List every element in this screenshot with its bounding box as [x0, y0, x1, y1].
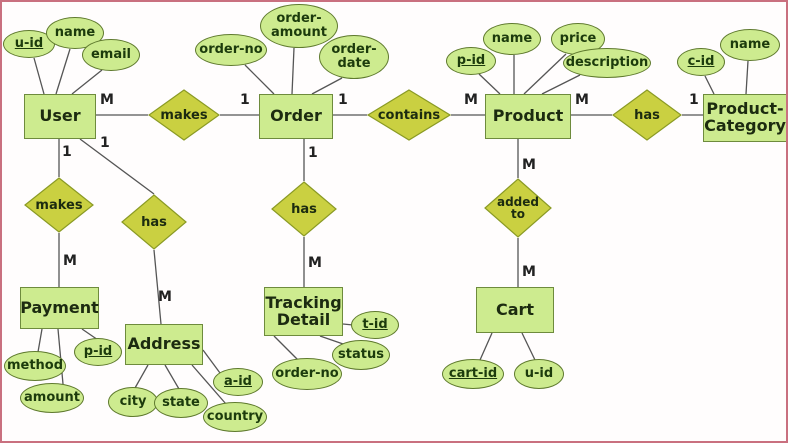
er-diagram-canvas: makescontainshasmakeshashasaddedto UserO…: [0, 0, 788, 443]
connector-line: [38, 329, 42, 352]
connector-line: [705, 76, 714, 94]
connector-line: [524, 54, 566, 94]
attribute-label: a-id: [224, 375, 252, 389]
entity-label: Order: [270, 108, 322, 125]
cardinality-c-contains-product: M: [464, 92, 478, 108]
connector-line: [56, 49, 70, 94]
attribute-label: c-id: [688, 55, 715, 69]
attribute-label: cart-id: [449, 367, 497, 381]
attribute-product-description[interactable]: description: [563, 48, 651, 78]
entity-tracking[interactable]: TrackingDetail: [264, 287, 343, 336]
cardinality-c-order-contains: 1: [338, 92, 348, 108]
attribute-category-name[interactable]: name: [720, 29, 780, 61]
relationship-label: has: [121, 194, 187, 250]
relationship-label: makes: [24, 177, 94, 233]
attribute-label: order-amount: [271, 12, 327, 39]
attribute-label: price: [560, 32, 597, 46]
entity-label: Address: [127, 336, 200, 353]
attribute-order-order-amount[interactable]: order-amount: [260, 4, 338, 48]
attribute-label: p-id: [457, 54, 485, 68]
attribute-label: country: [207, 410, 263, 424]
attribute-tracking-t-id[interactable]: t-id: [351, 311, 399, 339]
attribute-label: order-no: [275, 367, 338, 381]
connector-line: [746, 61, 748, 94]
attribute-payment-p-id[interactable]: p-id: [74, 338, 122, 366]
entity-product[interactable]: Product: [485, 94, 571, 139]
relationship-label: addedto: [484, 178, 552, 238]
connector-line: [522, 333, 535, 360]
entity-label: Product-Category: [704, 101, 786, 135]
cardinality-c-makes2-payment: M: [63, 253, 77, 269]
relationship-product-added-to-cart[interactable]: addedto: [484, 178, 552, 238]
cardinality-c-has-tracking: M: [308, 255, 322, 271]
connector-line: [479, 74, 500, 94]
attribute-tracking-order-no[interactable]: order-no: [272, 358, 342, 390]
cardinality-c-product-added: M: [522, 157, 536, 173]
connector-line: [274, 336, 298, 360]
attribute-label: name: [730, 38, 770, 52]
attribute-label: u-id: [525, 367, 553, 381]
connector-line: [72, 70, 102, 94]
attribute-label: state: [162, 396, 200, 410]
cardinality-c-user-has: 1: [100, 135, 110, 151]
attribute-label: t-id: [362, 318, 387, 332]
attribute-label: description: [566, 56, 649, 70]
attribute-label: order-no: [199, 43, 262, 57]
attribute-cart-cart-id[interactable]: cart-id: [442, 359, 504, 389]
entity-payment[interactable]: Payment: [20, 287, 99, 329]
attribute-payment-amount[interactable]: amount: [20, 383, 84, 413]
attribute-label: city: [120, 395, 147, 409]
attribute-product-p-id[interactable]: p-id: [446, 47, 496, 75]
attribute-user-email[interactable]: email: [82, 39, 140, 71]
relationship-user-has-address[interactable]: has: [121, 194, 187, 250]
relationship-product-has-category[interactable]: has: [612, 89, 682, 141]
attribute-address-a-id[interactable]: a-id: [213, 368, 263, 396]
cardinality-c-product-has: M: [575, 92, 589, 108]
attribute-cart-u-id[interactable]: u-id: [514, 359, 564, 389]
attribute-payment-method[interactable]: method: [4, 351, 66, 381]
attribute-label: order-date: [331, 43, 376, 70]
cardinality-c-added-cart: M: [522, 264, 536, 280]
entity-order[interactable]: Order: [259, 94, 333, 139]
attribute-order-order-date[interactable]: order-date: [319, 35, 389, 79]
attribute-address-state[interactable]: state: [154, 388, 208, 418]
entity-label: Product: [493, 108, 564, 125]
entity-address[interactable]: Address: [125, 324, 203, 365]
connector-line: [203, 350, 220, 373]
entity-label: Payment: [20, 300, 99, 317]
connector-line: [34, 58, 44, 94]
entity-cart[interactable]: Cart: [476, 287, 554, 333]
connector-line: [154, 250, 161, 324]
attribute-tracking-status[interactable]: status: [332, 340, 390, 370]
attribute-order-order-no[interactable]: order-no: [195, 34, 267, 66]
connector-line: [292, 48, 294, 94]
attribute-label: u-id: [15, 37, 43, 51]
connector-line: [165, 365, 179, 389]
relationship-label: has: [271, 181, 337, 237]
attribute-product-name[interactable]: name: [483, 23, 541, 55]
relationship-order-contains-product[interactable]: contains: [367, 89, 451, 141]
attribute-label: name: [55, 26, 95, 40]
attribute-category-c-id[interactable]: c-id: [677, 48, 725, 76]
entity-label: Cart: [496, 302, 534, 319]
cardinality-c-user-makes: M: [100, 92, 114, 108]
entity-user[interactable]: User: [24, 94, 96, 139]
attribute-label: email: [91, 48, 131, 62]
cardinality-c-order-has: 1: [308, 145, 318, 161]
relationship-user-makes-payment[interactable]: makes: [24, 177, 94, 233]
entity-label: TrackingDetail: [265, 295, 341, 329]
relationship-label: makes: [148, 89, 220, 141]
relationship-label: has: [612, 89, 682, 141]
relationship-label: contains: [367, 89, 451, 141]
cardinality-c-user-makes2: 1: [62, 144, 72, 160]
connector-line: [480, 333, 492, 360]
cardinality-c-makes-order: 1: [240, 92, 250, 108]
entity-label: User: [39, 108, 80, 125]
attribute-address-city[interactable]: city: [108, 387, 158, 417]
cardinality-c-has-category: 1: [689, 92, 699, 108]
attribute-label: amount: [24, 391, 80, 405]
connector-line: [135, 365, 148, 388]
connector-line: [245, 65, 274, 94]
entity-category[interactable]: Product-Category: [703, 94, 787, 142]
attribute-label: status: [338, 348, 384, 362]
attribute-label: method: [7, 359, 63, 373]
cardinality-c-has-address: M: [158, 289, 172, 305]
relationship-user-makes-order[interactable]: makes: [148, 89, 220, 141]
attribute-label: name: [492, 32, 532, 46]
attribute-label: p-id: [84, 345, 112, 359]
attribute-address-country[interactable]: country: [203, 402, 267, 432]
relationship-order-has-tracking[interactable]: has: [271, 181, 337, 237]
